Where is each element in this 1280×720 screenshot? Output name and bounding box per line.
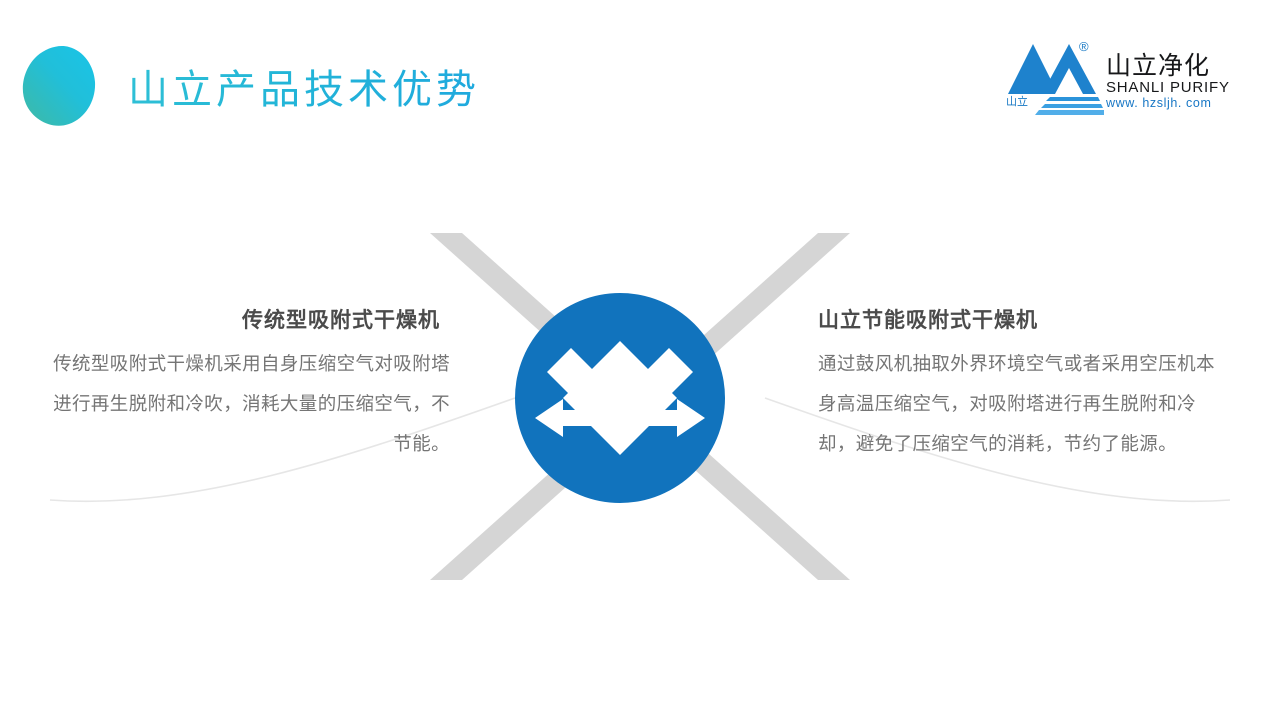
logo-name-cn: 山立净化	[1106, 52, 1232, 79]
right-panel-heading: 山立节能吸附式干燥机	[818, 305, 1038, 335]
right-panel-body: 通过鼓风机抽取外界环境空气或者采用空压机本身高温压缩空气，对吸附塔进行再生脱附和…	[818, 345, 1218, 465]
diamond-arrows-exchange-icon	[515, 293, 725, 503]
left-panel-heading: 传统型吸附式干燥机	[242, 305, 440, 335]
logo-website-url: www. hzsljh. com	[1106, 96, 1232, 111]
left-panel-body: 传统型吸附式干燥机采用自身压缩空气对吸附塔进行再生脱附和冷吹，消耗大量的压缩空气…	[40, 345, 450, 465]
logo-mark-label: 山立	[1006, 96, 1028, 108]
page-title: 山立产品技术优势	[128, 64, 480, 116]
registered-trademark-icon: ®	[1079, 40, 1089, 53]
brand-logo: 山立 ® 山立净化 SHANLI PURIFY www. hzsljh. com	[1006, 38, 1232, 120]
slide-canvas: 山立产品技术优势 山立 ® 山立净化 SHANLI PURIFY www. hz…	[0, 0, 1280, 720]
logo-name-en: SHANLI PURIFY	[1106, 79, 1232, 96]
logo-wordmark: 山立净化 SHANLI PURIFY www. hzsljh. com	[1106, 52, 1232, 111]
decorative-blob-icon	[22, 46, 96, 126]
